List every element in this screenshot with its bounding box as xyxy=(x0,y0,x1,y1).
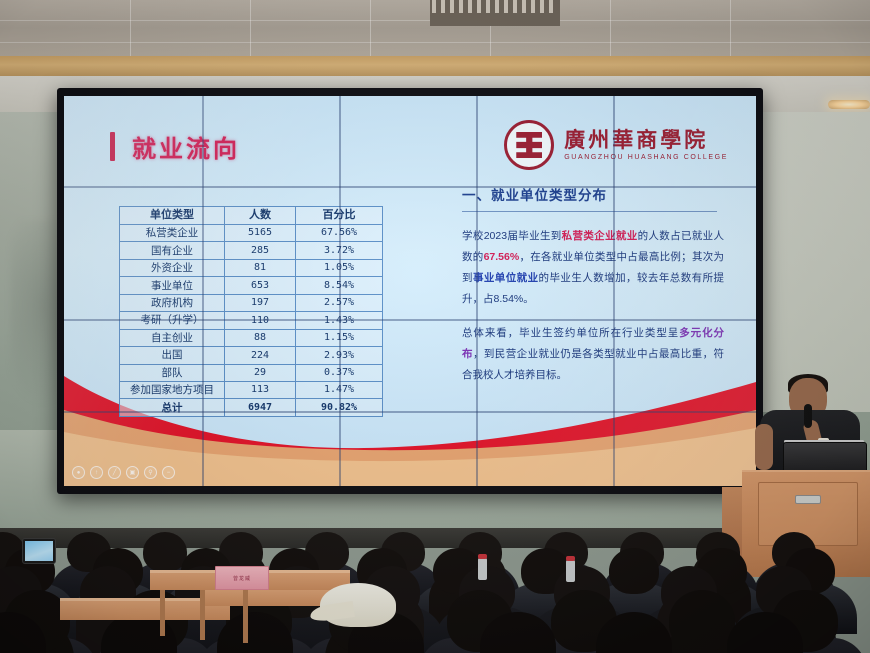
name-placard: 曾龙威 xyxy=(215,566,269,590)
table-row: 出国2242.93% xyxy=(120,347,383,364)
table-header-row: 单位类型人数百分比 xyxy=(120,207,383,225)
logo-english-name: GUANGZHOU HUASHANG COLLEGE xyxy=(564,154,728,161)
table-cell: 私营类企业 xyxy=(120,225,225,242)
zoom-icon[interactable]: ⚲ xyxy=(144,466,157,479)
water-bottle-1 xyxy=(478,558,487,580)
ceiling-soffit-trim xyxy=(0,56,870,78)
placard-text: 曾龙威 xyxy=(233,575,251,582)
paragraph-1: 学校2023届毕业生到私营类企业就业的人数占已就业人数的67.56%，在各就业单… xyxy=(462,226,724,310)
table-cell: 197 xyxy=(225,294,296,311)
podium-handle xyxy=(795,495,821,504)
heading-rule xyxy=(462,211,717,212)
table-row: 外资企业811.05% xyxy=(120,259,383,276)
downlight-4 xyxy=(828,100,870,109)
table-cell: 285 xyxy=(225,242,296,259)
table-cell: 88 xyxy=(225,329,296,346)
table-cell: 部队 xyxy=(120,364,225,381)
table-cell: 总计 xyxy=(120,399,225,416)
lecture-hall-photo: 就业流向 廣州華商學院 GUANGZHOU HUASHANG COLLEGE 单… xyxy=(0,0,870,653)
table-cell: 出国 xyxy=(120,347,225,364)
table-cell: 政府机构 xyxy=(120,294,225,311)
slide-title: 就业流向 xyxy=(132,129,240,164)
employment-table: 单位类型人数百分比私营类企业516567.56%国有企业2853.72%外资企业… xyxy=(119,206,383,417)
table-cell: 653 xyxy=(225,277,296,294)
table-cell: 5165 xyxy=(225,225,296,242)
student-desk-3 xyxy=(200,590,340,606)
table-cell: 自主创业 xyxy=(120,329,225,346)
table-cell: 6947 xyxy=(225,399,296,416)
ppt-presenter-toolbar[interactable]: ●↑╱▣⚲− xyxy=(72,466,175,479)
logo-glyph-icon xyxy=(516,132,542,158)
table-row: 自主创业881.15% xyxy=(120,329,383,346)
table-row: 部队290.37% xyxy=(120,364,383,381)
vent-grille xyxy=(432,0,558,13)
table-row: 参加国家地方项目1131.47% xyxy=(120,381,383,398)
pointer-icon[interactable]: ↑ xyxy=(90,466,103,479)
p1-highlight-percent: 67.56% xyxy=(484,251,520,263)
audience-head xyxy=(669,590,735,652)
p1-highlight-private: 私营类企业就业 xyxy=(562,230,638,242)
speaker-left-arm xyxy=(755,424,773,470)
video-wall-frame: 就业流向 廣州華商學院 GUANGZHOU HUASHANG COLLEGE 单… xyxy=(57,88,763,494)
p1-highlight-public: 事业单位就业 xyxy=(473,272,539,284)
slide-text-panel: 一、就业单位类型分布 学校2023届毕业生到私营类企业就业的人数占已就业人数的6… xyxy=(462,184,724,386)
ceiling xyxy=(0,0,870,62)
table-cell: 81 xyxy=(225,259,296,276)
p2-a: 总体来看，毕业生签约单位所在行业类型呈 xyxy=(462,327,679,339)
logo-chinese-name: 廣州華商學院 xyxy=(564,129,728,151)
table-cell: 113 xyxy=(225,381,296,398)
table-header-cell: 人数 xyxy=(225,207,296,225)
table-row: 私营类企业516567.56% xyxy=(120,225,383,242)
slide-title-group: 就业流向 xyxy=(110,129,240,164)
table-row: 国有企业2853.72% xyxy=(120,242,383,259)
table-cell: 29 xyxy=(225,364,296,381)
university-logo: 廣州華商學院 GUANGZHOU HUASHANG COLLEGE xyxy=(504,120,728,170)
table-row: 事业单位6538.54% xyxy=(120,277,383,294)
table-row: 总计694790.82% xyxy=(120,399,383,416)
audience-head xyxy=(609,548,659,594)
microphone xyxy=(804,404,812,428)
table-cell: 224 xyxy=(225,347,296,364)
table-cell: 参加国家地方项目 xyxy=(120,381,225,398)
table-cell: 国有企业 xyxy=(120,242,225,259)
table-header-cell: 单位类型 xyxy=(120,207,225,225)
logo-emblem-icon xyxy=(504,120,554,170)
record-icon[interactable]: ● xyxy=(72,466,85,479)
phone-recording[interactable] xyxy=(22,538,56,564)
phone-screen xyxy=(25,541,53,561)
paragraph-2: 总体来看，毕业生签约单位所在行业类型呈多元化分布，到民营企业就业仍是各类型就业中… xyxy=(462,323,724,386)
title-accent-bar xyxy=(110,132,115,161)
p2-c: ，到民营企业就业仍是各类型就业中占最高比重，符合我校人才培养目标。 xyxy=(462,348,724,381)
table-cell: 外资企业 xyxy=(120,259,225,276)
slides-icon[interactable]: ▣ xyxy=(126,466,139,479)
presentation-slide: 就业流向 廣州華商學院 GUANGZHOU HUASHANG COLLEGE 单… xyxy=(64,96,756,486)
table-row: 政府机构1972.57% xyxy=(120,294,383,311)
table-cell: 事业单位 xyxy=(120,277,225,294)
more-icon[interactable]: − xyxy=(162,466,175,479)
video-wall-screen[interactable]: 就业流向 廣州華商學院 GUANGZHOU HUASHANG COLLEGE 单… xyxy=(64,96,756,486)
water-bottle-2 xyxy=(566,560,575,582)
pen-icon[interactable]: ╱ xyxy=(108,466,121,479)
